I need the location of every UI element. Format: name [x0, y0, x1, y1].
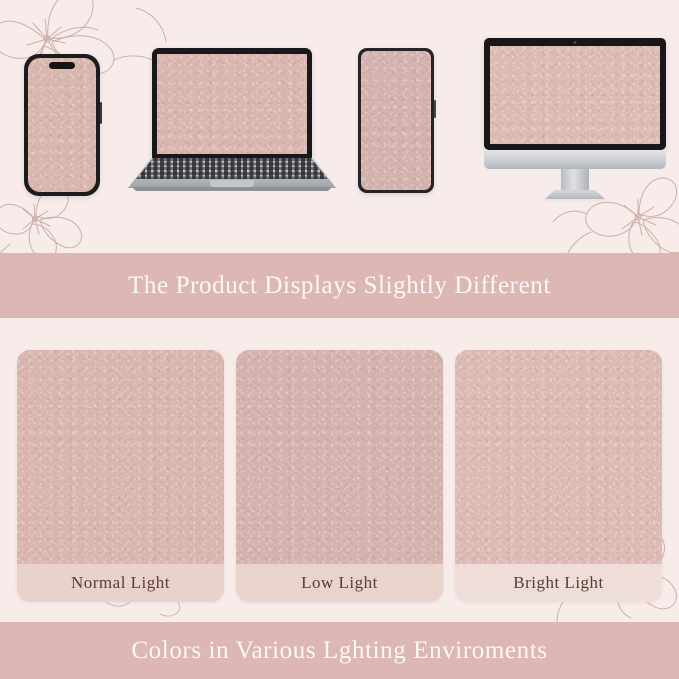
bottom-banner: Colors in Various Lghting Enviroments: [0, 622, 679, 679]
swatch-color-area: [17, 350, 224, 564]
monitor-stand-base: [542, 199, 608, 202]
fabric-texture: [157, 54, 307, 154]
swatch-label-strip: Bright Light: [455, 564, 662, 602]
fabric-texture: [236, 350, 443, 564]
monitor-stand-neck: [561, 169, 589, 191]
laptop-mockup: [128, 48, 336, 196]
monitor-body: [484, 38, 666, 150]
device-mockups-section: [0, 0, 679, 253]
laptop-front-edge: [130, 187, 334, 191]
lighting-swatches-section: Normal Light Low Light Bright Light: [0, 318, 679, 622]
top-banner: The Product Displays Slightly Different: [0, 253, 679, 318]
swatch-row: Normal Light Low Light Bright Light: [17, 350, 662, 602]
bottom-banner-text: Colors in Various Lghting Enviroments: [131, 637, 547, 665]
desktop-monitor-mockup: [484, 38, 666, 198]
swatch-label-text: Normal Light: [71, 573, 170, 593]
phone-dynamic-island: [49, 62, 75, 69]
swatch-bright-light: Bright Light: [455, 350, 662, 602]
laptop-screen: [157, 54, 307, 154]
swatch-low-light: Low Light: [236, 350, 443, 602]
fabric-texture: [455, 350, 662, 564]
swatch-normal-light: Normal Light: [17, 350, 224, 602]
fabric-texture: [28, 58, 96, 192]
fabric-texture: [361, 51, 431, 190]
swatch-label-text: Low Light: [301, 573, 378, 593]
swatch-label-strip: Normal Light: [17, 564, 224, 602]
fabric-texture: [17, 350, 224, 564]
product-color-display-page: The Product Displays Slightly Different …: [0, 0, 679, 679]
smartphone-mockup: [24, 54, 100, 196]
laptop-trackpad: [210, 179, 254, 187]
top-banner-text: The Product Displays Slightly Different: [128, 272, 551, 300]
monitor-webcam-icon: [574, 41, 577, 44]
monitor-screen: [490, 46, 660, 144]
swatch-color-area: [236, 350, 443, 564]
laptop-lid: [152, 48, 312, 160]
phone-side-button: [100, 102, 102, 124]
phone-screen: [28, 58, 96, 192]
swatch-color-area: [455, 350, 662, 564]
tablet-mockup: [358, 48, 434, 193]
tablet-screen: [361, 51, 431, 190]
fabric-texture: [490, 46, 660, 144]
swatch-label-text: Bright Light: [513, 573, 604, 593]
tablet-side-button: [434, 100, 436, 118]
monitor-chin: [484, 150, 666, 169]
swatch-label-strip: Low Light: [236, 564, 443, 602]
laptop-keyboard: [128, 158, 336, 179]
